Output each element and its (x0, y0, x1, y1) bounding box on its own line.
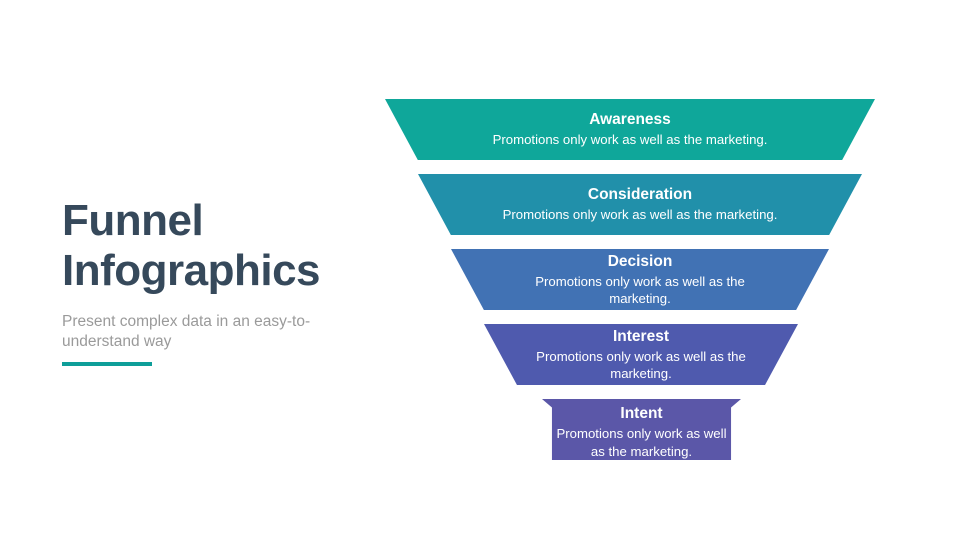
funnel-stage-description: Promotions only work as well as the mark… (556, 425, 727, 460)
funnel-stage-decision[interactable]: Decision Promotions only work as well as… (451, 249, 829, 310)
funnel-stage-awareness[interactable]: Awareness Promotions only work as well a… (385, 99, 875, 160)
funnel-chart: Awareness Promotions only work as well a… (0, 0, 980, 551)
funnel-stage-consideration[interactable]: Consideration Promotions only work as we… (418, 174, 862, 235)
funnel-stage-description: Promotions only work as well as the mark… (503, 206, 778, 224)
funnel-stage-text: Consideration Promotions only work as we… (467, 185, 813, 224)
slide-canvas: Funnel Infographics Present complex data… (0, 0, 980, 551)
funnel-stage-label: Consideration (588, 185, 692, 204)
funnel-stage-description: Promotions only work as well as the mark… (515, 273, 764, 308)
funnel-stage-label: Awareness (589, 110, 671, 129)
funnel-stage-text: Awareness Promotions only work as well a… (439, 110, 821, 149)
funnel-stage-interest[interactable]: Interest Promotions only work as well as… (484, 324, 798, 385)
funnel-stage-text: Decision Promotions only work as well as… (515, 252, 764, 308)
funnel-stage-label: Decision (608, 252, 673, 271)
funnel-stage-text: Intent Promotions only work as well as t… (556, 399, 727, 460)
funnel-stage-intent[interactable]: Intent Promotions only work as well as t… (542, 399, 741, 460)
funnel-stage-description: Promotions only work as well as the mark… (528, 348, 754, 383)
funnel-stage-text: Interest Promotions only work as well as… (528, 327, 754, 383)
funnel-stage-label: Intent (620, 404, 662, 423)
funnel-stage-label: Interest (613, 327, 669, 346)
funnel-stage-description: Promotions only work as well as the mark… (493, 131, 768, 149)
